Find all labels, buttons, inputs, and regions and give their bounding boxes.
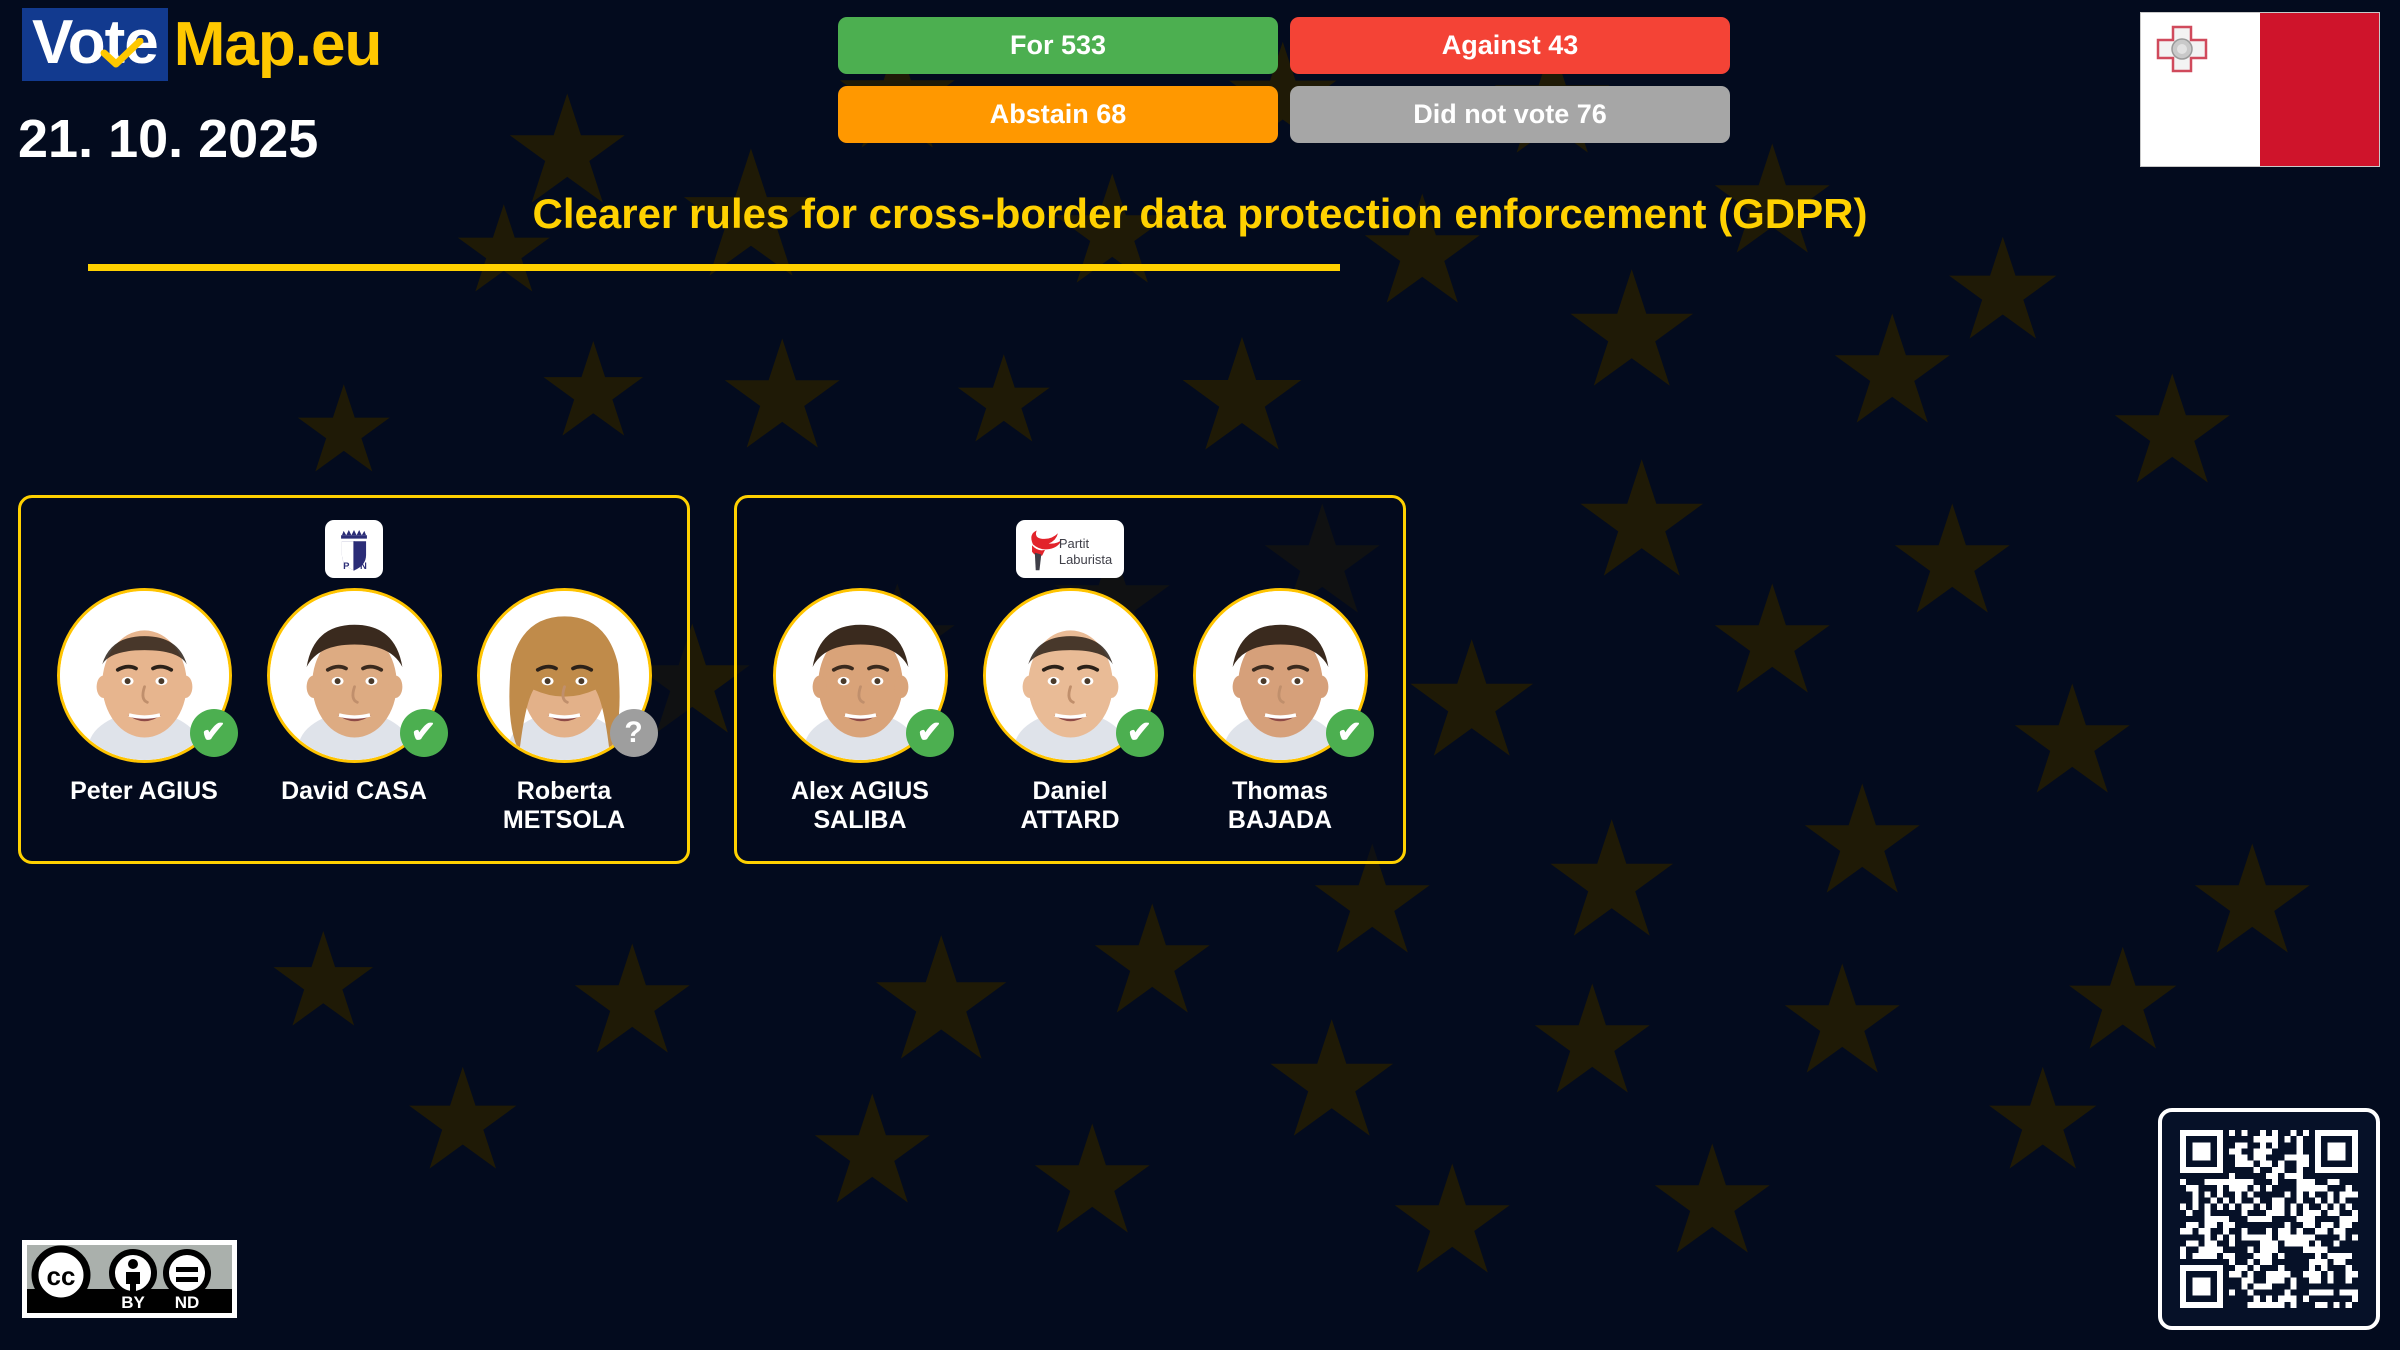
vote-tally-buttons: For 533 Against 43 Abstain 68 Did not vo…: [838, 17, 1730, 143]
eu-star-icon: ★: [265, 915, 382, 1045]
svg-text:N: N: [360, 561, 367, 572]
party-card: PN✔Peter AGIUS✔David CASA?Roberta METSOL…: [18, 495, 690, 864]
party-logo-wrapper: PartitLaburista: [755, 520, 1385, 578]
license-nd-label: ND: [175, 1293, 200, 1312]
mep-item[interactable]: ✔David CASA: [249, 588, 459, 806]
eu-star-icon: ★: [1085, 885, 1219, 1035]
tally-abstain-button[interactable]: Abstain 68: [838, 86, 1278, 143]
check-icon: ✔: [1116, 709, 1164, 757]
avatar-wrapper: ✔: [983, 588, 1158, 763]
qr-code[interactable]: [2158, 1108, 2380, 1330]
george-cross-icon: [2155, 25, 2209, 73]
mep-item[interactable]: ✔Alex AGIUS SALIBA: [755, 588, 965, 835]
eu-star-icon: ★: [2185, 825, 2319, 975]
votemap-logo[interactable]: Vote Map.eu: [22, 8, 381, 81]
mep-name: Thomas BAJADA: [1185, 777, 1375, 835]
svg-text:cc: cc: [47, 1261, 76, 1291]
mep-name: Daniel ATTARD: [975, 777, 1165, 835]
eu-star-icon: ★: [290, 370, 398, 490]
mep-item[interactable]: ✔Peter AGIUS: [39, 588, 249, 806]
logo-vote-text: Vote: [22, 8, 168, 81]
logo-map-text: Map.eu: [168, 12, 382, 77]
svg-text:Laburista: Laburista: [1059, 552, 1113, 567]
cc-by-nd-icon: cc BY ND: [27, 1245, 232, 1313]
eu-star-icon: ★: [1525, 965, 1659, 1115]
eu-star-icon: ★: [1825, 295, 1959, 445]
eu-star-icon: ★: [1173, 318, 1312, 473]
flag-red-half: [2260, 13, 2379, 166]
eu-star-icon: ★: [805, 1075, 939, 1225]
mep-item[interactable]: ✔Daniel ATTARD: [965, 588, 1175, 835]
eu-star-icon: ★: [535, 325, 652, 455]
check-icon: ✔: [400, 709, 448, 757]
check-icon: ✔: [906, 709, 954, 757]
eu-star-icon: ★: [1560, 250, 1703, 410]
avatar-wrapper: ✔: [773, 588, 948, 763]
avatar-wrapper: ✔: [57, 588, 232, 763]
party-cards-container: PN✔Peter AGIUS✔David CASA?Roberta METSOL…: [18, 495, 1406, 864]
eu-star-icon: ★: [565, 925, 699, 1075]
eu-star-icon: ★: [1940, 220, 2066, 360]
mep-name: Alex AGIUS SALIBA: [765, 777, 955, 835]
avatar-wrapper: ✔: [1193, 588, 1368, 763]
eu-star-icon: ★: [715, 320, 849, 470]
party-logo-wrapper: PN: [39, 520, 669, 578]
avatar-wrapper: ?: [477, 588, 652, 763]
check-icon: ✔: [1326, 709, 1374, 757]
eu-star-icon: ★: [950, 340, 1058, 460]
cc-by-nd-license-badge[interactable]: cc BY ND: [22, 1240, 237, 1318]
eu-star-icon: ★: [1795, 765, 1929, 915]
eu-star-icon: ★: [1400, 620, 1543, 780]
eu-star-icon: ★: [1645, 1125, 1779, 1275]
eu-star-icon: ★: [2105, 355, 2239, 505]
eu-star-icon: ★: [1385, 1145, 1519, 1295]
svg-text:Partit: Partit: [1059, 536, 1090, 551]
qr-code-icon: [2180, 1130, 2358, 1308]
svg-text:P: P: [343, 561, 349, 572]
eu-star-icon: ★: [1570, 440, 1713, 600]
eu-star-icon: ★: [1775, 945, 1909, 1095]
mep-row: ✔Peter AGIUS✔David CASA?Roberta METSOLA: [39, 588, 669, 835]
mep-row: ✔Alex AGIUS SALIBA✔Daniel ATTARD✔Thomas …: [755, 588, 1385, 835]
flag-white-half: [2141, 13, 2260, 166]
eu-star-icon: ★: [2060, 930, 2186, 1070]
question-icon: ?: [610, 709, 658, 757]
votemap-infographic: ★★★★★★★★★★★★★★★★★★★★★★★★★★★★★★★★★★★★★★★★…: [0, 0, 2400, 1350]
mep-name: Peter AGIUS: [49, 777, 239, 806]
vote-date: 21. 10. 2025: [18, 108, 318, 170]
eu-star-icon: ★: [1025, 1105, 1159, 1255]
eu-star-icon: ★: [1705, 565, 1839, 715]
mep-name: Roberta METSOLA: [469, 777, 659, 835]
check-icon: ✔: [190, 709, 238, 757]
eu-star-icon: ★: [1260, 1000, 1403, 1160]
vote-title: Clearer rules for cross-border data prot…: [0, 190, 2400, 238]
tally-against-button[interactable]: Against 43: [1290, 17, 1730, 74]
eu-star-icon: ★: [865, 915, 1017, 1085]
party-card: PartitLaburista✔Alex AGIUS SALIBA✔Daniel…: [734, 495, 1406, 864]
partit-laburista-logo[interactable]: PartitLaburista: [1016, 520, 1124, 578]
malta-flag: [2140, 12, 2380, 167]
mep-item[interactable]: ✔Thomas BAJADA: [1175, 588, 1385, 835]
eu-star-icon: ★: [2005, 665, 2139, 815]
eu-star-icon: ★: [1980, 1050, 2106, 1190]
partit-nazzjonalista-logo[interactable]: PN: [325, 520, 383, 578]
avatar-wrapper: ✔: [267, 588, 442, 763]
title-underline-rule: [88, 264, 1340, 271]
license-by-label: BY: [121, 1293, 145, 1312]
tally-for-button[interactable]: For 533: [838, 17, 1278, 74]
mep-item[interactable]: ?Roberta METSOLA: [459, 588, 669, 835]
eu-star-icon: ★: [1885, 485, 2019, 635]
tally-didnotvote-button[interactable]: Did not vote 76: [1290, 86, 1730, 143]
eu-star-icon: ★: [400, 1050, 526, 1190]
mep-name: David CASA: [259, 777, 449, 806]
eu-star-icon: ★: [1540, 800, 1683, 960]
